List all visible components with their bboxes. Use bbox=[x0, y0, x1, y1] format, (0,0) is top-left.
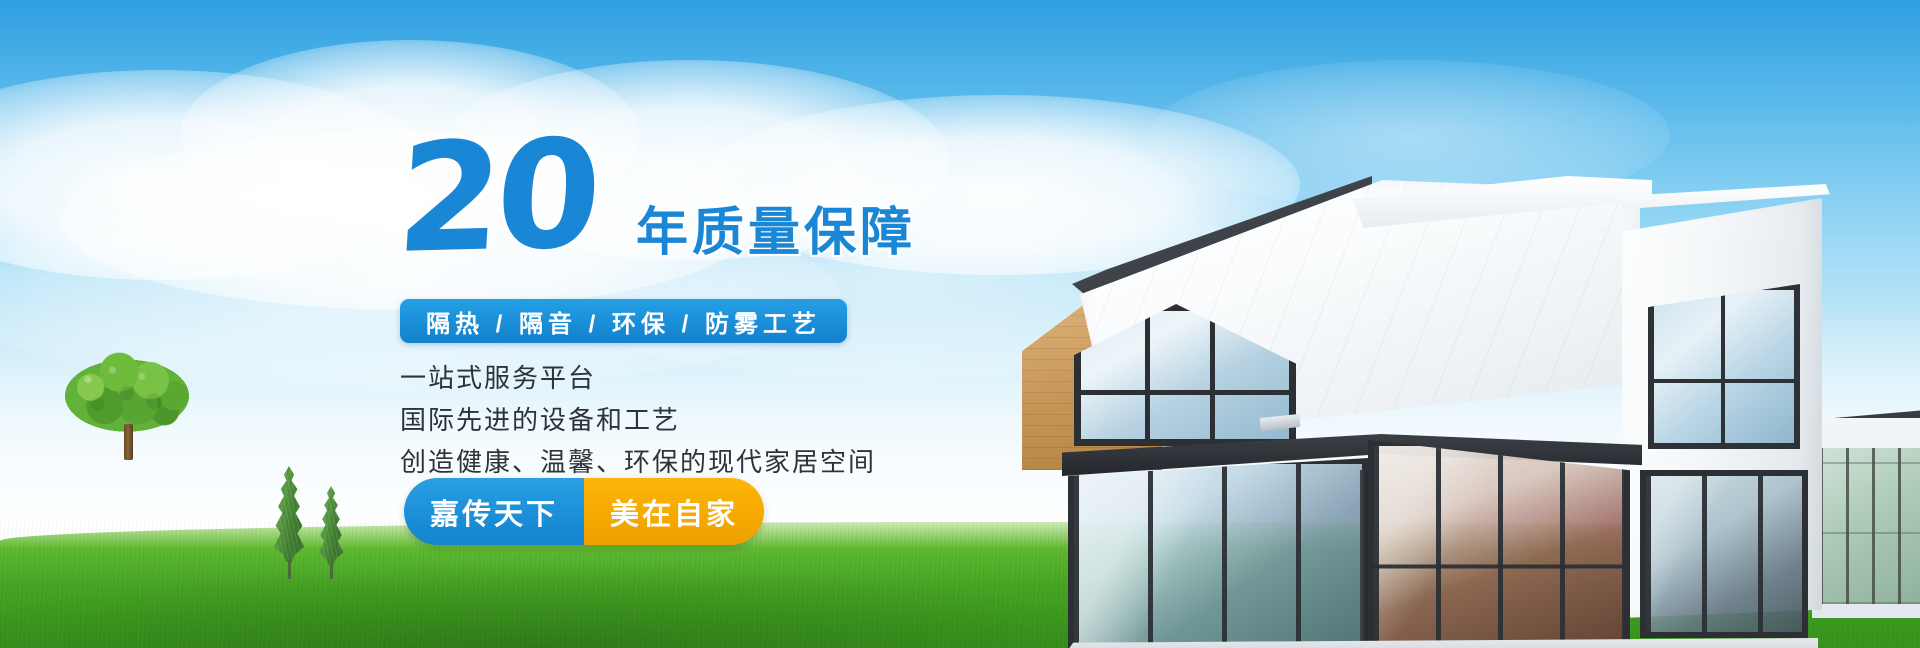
window-mullion-horizontal bbox=[1654, 379, 1794, 383]
slogan-button[interactable]: 嘉传天下 美在自家 bbox=[404, 478, 764, 545]
years-suffix-text: 年质量保障 bbox=[636, 190, 916, 265]
description-block: 一站式服务平台 国际先进的设备和工艺 创造健康、温馨、环保的现代家居空间 bbox=[400, 360, 876, 480]
house-tower-window bbox=[1648, 284, 1800, 449]
window-mullion-vertical bbox=[1145, 311, 1150, 439]
headline-group: 20 年质量保障 bbox=[398, 128, 958, 268]
description-line: 创造健康、温馨、环保的现代家居空间 bbox=[400, 444, 876, 480]
house-tower-lower-window bbox=[1640, 470, 1808, 638]
house-downpipe bbox=[1360, 470, 1367, 648]
house-wing-glazing bbox=[1820, 448, 1920, 604]
years-number: 20 bbox=[394, 125, 633, 269]
description-line: 一站式服务平台 bbox=[400, 360, 876, 396]
glass-sunroom-house bbox=[1022, 118, 1920, 648]
window-mullion-horizontal bbox=[1081, 390, 1289, 395]
feature-tag-text: 隔热 / 隔音 / 环保 / 防雾工艺 bbox=[426, 304, 821, 339]
description-line: 国际先进的设备和工艺 bbox=[400, 402, 876, 438]
banner-content: 20 年质量保障 隔热 / 隔音 / 环保 / 防雾工艺 一站式服务平台 国际先… bbox=[0, 0, 1000, 648]
slogan-segment-left[interactable]: 嘉传天下 bbox=[404, 478, 584, 545]
window-mullion-vertical bbox=[1210, 311, 1215, 439]
slogan-segment-right[interactable]: 美在自家 bbox=[584, 478, 764, 545]
window-mullion-vertical bbox=[1721, 290, 1725, 443]
promo-banner: 20 年质量保障 隔热 / 隔音 / 环保 / 防雾工艺 一站式服务平台 国际先… bbox=[0, 0, 1920, 648]
feature-tag-pill: 隔热 / 隔音 / 环保 / 防雾工艺 bbox=[400, 299, 847, 343]
house-right-glass-wall bbox=[1368, 440, 1630, 648]
house-front-glass-wall bbox=[1068, 458, 1368, 648]
